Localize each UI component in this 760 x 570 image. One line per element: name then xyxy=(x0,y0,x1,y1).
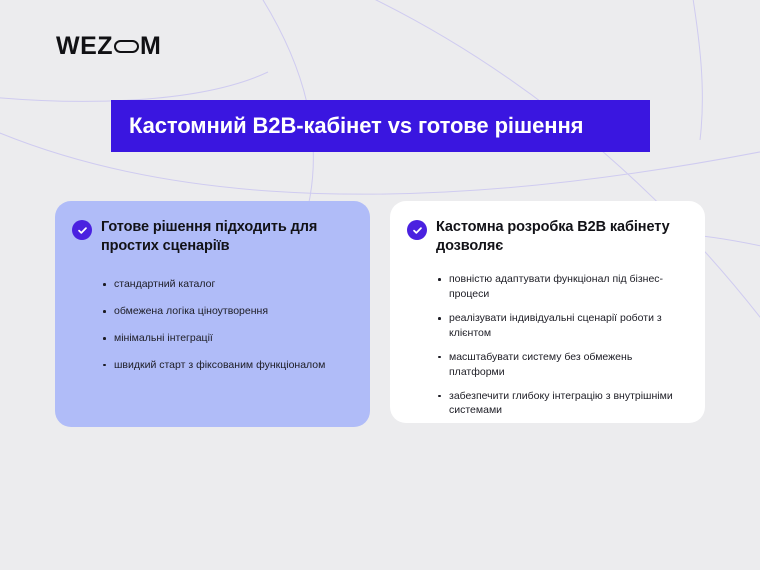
list-item: повністю адаптувати функціонал під бізне… xyxy=(438,272,687,302)
list-item: забезпечити глибоку інтеграцію з внутріш… xyxy=(438,389,687,419)
card-custom-development: Кастомна розробка B2B кабінету дозволяє … xyxy=(390,201,705,423)
list-item: швидкий старт з фіксованим функціоналом xyxy=(103,358,350,373)
card-left-header: Готове рішення підходить для простих сце… xyxy=(72,218,350,255)
title-banner: Кастомний B2B-кабінет vs готове рішення xyxy=(111,100,650,152)
list-item: масштабувати систему без обмежень платфо… xyxy=(438,350,687,380)
list-item: мінімальні інтеграції xyxy=(103,331,350,346)
wezom-logo: WEZM xyxy=(56,33,161,59)
list-item: реалізувати індивідуальні сценарії робот… xyxy=(438,311,687,341)
card-ready-made-solution: Готове рішення підходить для простих сце… xyxy=(55,201,370,427)
logo-wordmark: WEZM xyxy=(56,33,161,59)
page-title: Кастомний B2B-кабінет vs готове рішення xyxy=(129,113,583,139)
card-left-bullet-list: стандартний каталог обмежена логіка ціно… xyxy=(72,277,350,373)
logo-text-after: M xyxy=(140,33,161,59)
list-item: обмежена логіка ціноутворення xyxy=(103,304,350,319)
check-circle-icon xyxy=(407,220,427,240)
card-right-bullet-list: повністю адаптувати функціонал під бізне… xyxy=(407,272,687,418)
logo-pill-o-icon xyxy=(114,40,139,53)
check-circle-icon xyxy=(72,220,92,240)
card-left-title: Готове рішення підходить для простих сце… xyxy=(101,218,350,255)
card-right-title: Кастомна розробка B2B кабінету дозволяє xyxy=(436,218,687,255)
logo-text-before: WEZ xyxy=(56,33,113,59)
card-right-header: Кастомна розробка B2B кабінету дозволяє xyxy=(407,218,687,255)
list-item: стандартний каталог xyxy=(103,277,350,292)
